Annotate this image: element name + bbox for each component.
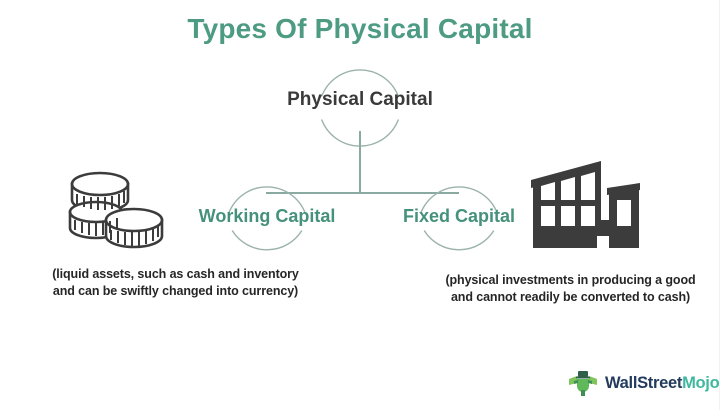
- factory-building-icon: [527, 160, 645, 258]
- infographic-canvas: Types Of Physical Capital Physical Capit…: [0, 0, 720, 410]
- working-capital-caption: (liquid assets, such as cash and invento…: [48, 266, 303, 300]
- connector-horizontal: [266, 192, 459, 194]
- page-title: Types Of Physical Capital: [0, 13, 720, 45]
- node-physical-capital: Physical Capital: [280, 89, 440, 111]
- mojo-mascot-icon: [568, 369, 598, 397]
- connector-vertical: [359, 131, 361, 193]
- node-fixed-capital: Fixed Capital: [379, 206, 539, 227]
- fixed-capital-caption: (physical investments in producing a goo…: [443, 272, 698, 306]
- stacked-coins-icon: [66, 168, 166, 260]
- brand-name-secondary: Mojo: [682, 374, 719, 392]
- node-working-capital: Working Capital: [187, 206, 347, 227]
- brand-name: WallStreetMojo: [605, 374, 719, 393]
- brand-logo: WallStreetMojo: [568, 368, 719, 398]
- brand-name-primary: WallStreet: [605, 374, 682, 392]
